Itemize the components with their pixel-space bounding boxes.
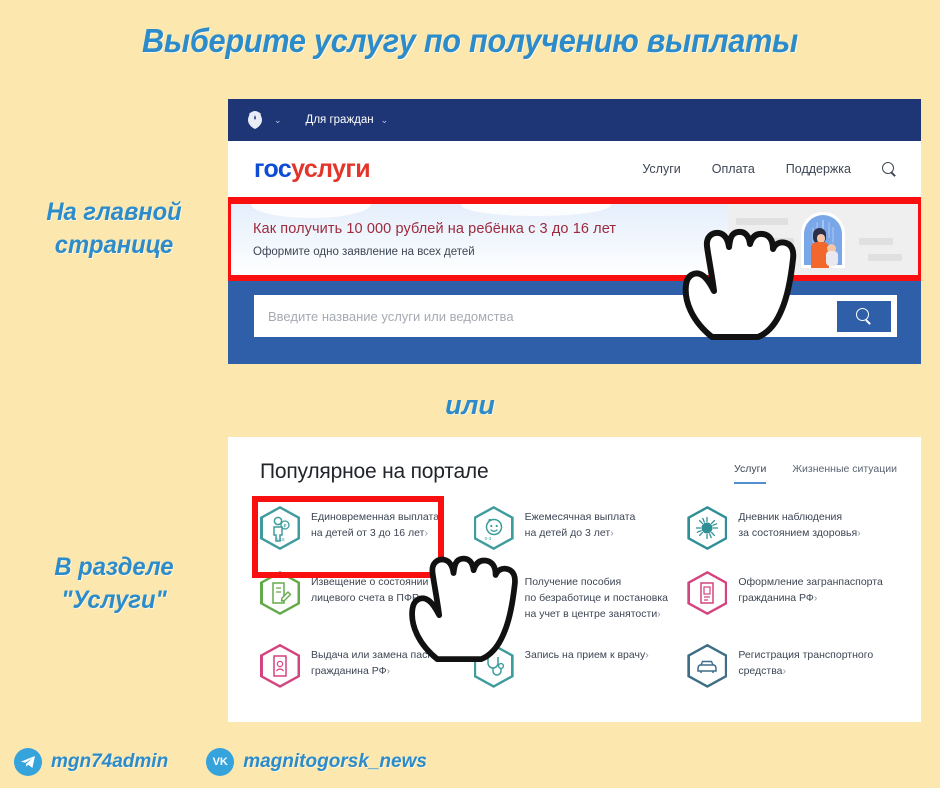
service-tile-label: Получение пособия по безработице и поста…: [525, 571, 668, 623]
gosuslugi-search-row: Введите название услуги или ведомства: [228, 281, 921, 337]
nav-item-podderzhka[interactable]: Поддержка: [786, 162, 851, 176]
social-vk[interactable]: VK magnitogorsk_news: [206, 748, 427, 776]
chevron-down-icon-audience: ⌄: [381, 116, 389, 125]
foreign-passport-icon: [687, 571, 727, 615]
tab-uslugi[interactable]: Услуги: [734, 463, 766, 484]
pointing-hand-cursor-banner: [676, 225, 806, 340]
coat-of-arms-icon: [245, 109, 264, 131]
pointing-hand-cursor-service: [402, 552, 528, 662]
service-tile-label: Ежемесячная выплата на детей до 3 лет›: [525, 506, 636, 542]
vk-icon-glyph: VK: [213, 757, 228, 768]
search-icon[interactable]: [882, 162, 897, 177]
tab-zhiznennye-situacii[interactable]: Жизненные ситуации: [792, 463, 897, 484]
logo-part-uslugi: услуги: [291, 155, 370, 183]
popular-services-screenshot: Популярное на портале Услуги Жизненные с…: [228, 437, 921, 722]
service-tile-label: Оформление загранпаспорта гражданина РФ›: [738, 571, 883, 607]
gosuslugi-homepage-screenshot: ⌄ Для граждан ⌄ госуслуги Услуги Оплата …: [228, 99, 921, 364]
telegram-icon: [14, 748, 42, 776]
annotation-or: или: [0, 390, 940, 421]
audience-selector[interactable]: Для граждан ⌄: [306, 114, 389, 126]
service-tile-zagranpasport[interactable]: Оформление загранпаспорта гражданина РФ›: [683, 565, 897, 629]
popular-tabs: Услуги Жизненные ситуации: [734, 463, 897, 484]
nav-item-uslugi[interactable]: Услуги: [642, 162, 680, 176]
service-tile-label: Запись на прием к врачу›: [525, 644, 649, 664]
service-tile-registraciya-ts[interactable]: Регистрация транспортного средства›: [683, 638, 897, 694]
service-tile-label: Дневник наблюдения за состоянием здоровь…: [738, 506, 860, 542]
poster-canvas: Выберите услугу по получению выплаты На …: [0, 0, 940, 788]
service-tile-ezhemesyachnaya-vyplata-do-3[interactable]: 0-3 Ежемесячная выплата на детей до 3 ле…: [470, 500, 684, 556]
vk-handle: magnitogorsk_news: [243, 751, 427, 773]
passport-icon: [260, 644, 300, 688]
social-bar: mgn74admin VK magnitogorsk_news: [14, 748, 427, 776]
car-icon: [687, 644, 727, 688]
logo-part-gos: гос: [254, 155, 291, 183]
popular-header: Популярное на портале Услуги Жизненные с…: [228, 437, 921, 484]
baby-face-icon: 0-3: [474, 506, 514, 550]
promo-title: Как получить 10 000 рублей на ребёнка с …: [253, 221, 616, 237]
annotation-services-section: В разделе "Услуги": [6, 551, 223, 616]
search-button[interactable]: [837, 301, 891, 332]
search-icon: [856, 308, 872, 324]
promo-text: Как получить 10 000 рублей на ребёнка с …: [231, 221, 616, 258]
gosuslugi-logo[interactable]: госуслуги: [254, 155, 370, 184]
promo-subtitle: Оформите одно заявление на всех детей: [253, 246, 616, 258]
page-title: Выберите услугу по получению выплаты: [33, 22, 907, 60]
vk-icon: VK: [206, 748, 234, 776]
window-frame-icon: [801, 212, 845, 268]
virus-icon: [687, 506, 727, 550]
audience-selector-label: Для граждан: [306, 114, 374, 126]
section-title: Популярное на портале: [260, 460, 488, 484]
social-telegram[interactable]: mgn74admin: [14, 748, 168, 776]
promo-banner-highlight: Как получить 10 000 рублей на ребёнка с …: [228, 197, 921, 281]
telegram-handle: mgn74admin: [51, 751, 168, 773]
nav-item-oplata[interactable]: Оплата: [712, 162, 755, 176]
annotation-main-page: На главной странице: [6, 196, 223, 261]
chevron-down-icon-coat[interactable]: ⌄: [274, 116, 282, 125]
gosuslugi-topbar: ⌄ Для граждан ⌄: [228, 99, 921, 141]
promo-banner[interactable]: Как получить 10 000 рублей на ребёнка с …: [231, 204, 918, 275]
gosuslugi-nav: Услуги Оплата Поддержка: [642, 162, 897, 177]
service-tile-label: Регистрация транспортного средства›: [738, 644, 873, 680]
search-input-placeholder: Введите название услуги или ведомства: [268, 309, 514, 324]
gosuslugi-header: госуслуги Услуги Оплата Поддержка: [228, 141, 921, 197]
svg-text:0-3: 0-3: [484, 536, 491, 541]
service-tile-dnevnik-nablyudeniya[interactable]: Дневник наблюдения за состоянием здоровь…: [683, 500, 897, 556]
